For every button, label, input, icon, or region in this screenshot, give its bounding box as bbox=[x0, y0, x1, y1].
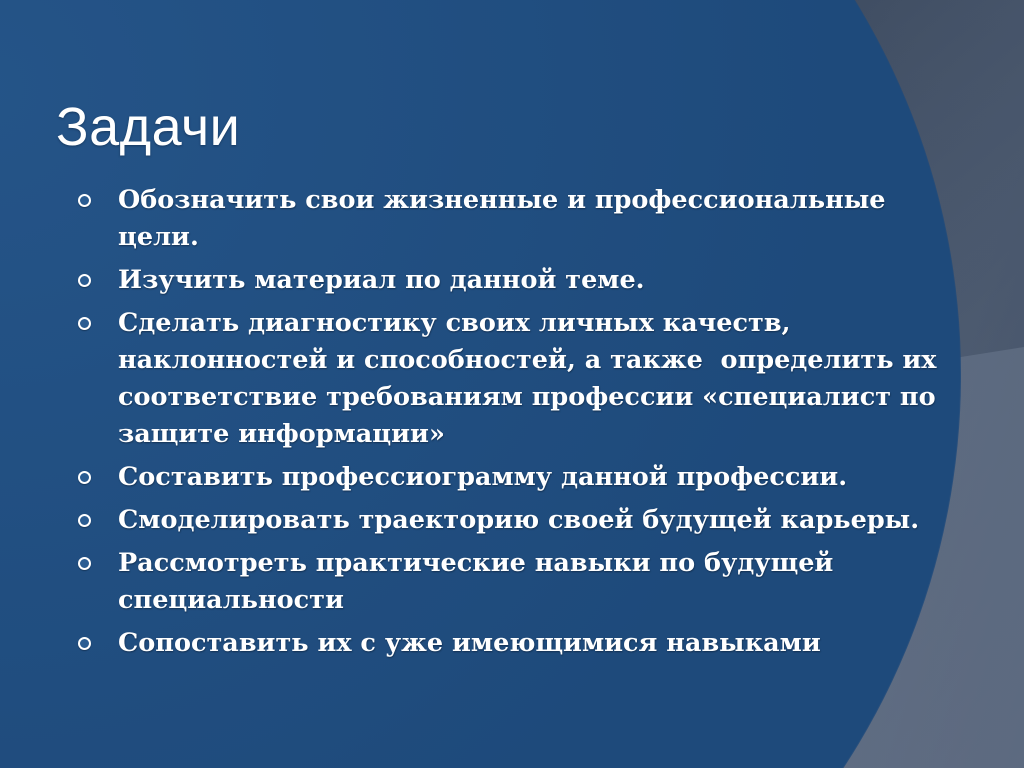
bullet-item: Составить профессиограмму данной професс… bbox=[72, 459, 952, 496]
hollow-circle-bullet-icon bbox=[78, 637, 91, 650]
bullet-item-text: Рассмотреть практические навыки по будущ… bbox=[118, 545, 952, 619]
bullet-item: Сделать диагностику своих личных качеств… bbox=[72, 305, 952, 453]
bullet-item-text: Смоделировать траекторию своей будущей к… bbox=[118, 502, 952, 539]
slide-title: Задачи bbox=[56, 98, 240, 157]
bullet-item: Изучить материал по данной теме. bbox=[72, 262, 952, 299]
hollow-circle-bullet-icon bbox=[78, 557, 91, 570]
bullet-item: Смоделировать траекторию своей будущей к… bbox=[72, 502, 952, 539]
bullet-list: Обозначить свои жизненные и профессионал… bbox=[72, 182, 952, 668]
hollow-circle-bullet-icon bbox=[78, 274, 91, 287]
hollow-circle-bullet-icon bbox=[78, 514, 91, 527]
bullet-item-text: Сопоставить их с уже имеющимися навыками bbox=[118, 625, 952, 662]
presentation-slide: Задачи Обозначить свои жизненные и профе… bbox=[0, 0, 1024, 768]
bullet-item: Рассмотреть практические навыки по будущ… bbox=[72, 545, 952, 619]
bullet-item: Сопоставить их с уже имеющимися навыками bbox=[72, 625, 952, 662]
bullet-item: Обозначить свои жизненные и профессионал… bbox=[72, 182, 952, 256]
bullet-item-text: Обозначить свои жизненные и профессионал… bbox=[118, 182, 952, 256]
bullet-item-text: Изучить материал по данной теме. bbox=[118, 262, 952, 299]
bullet-item-text: Сделать диагностику своих личных качеств… bbox=[118, 305, 952, 453]
hollow-circle-bullet-icon bbox=[78, 317, 91, 330]
slide-content: Задачи Обозначить свои жизненные и профе… bbox=[0, 0, 1024, 768]
bullet-item-text: Составить профессиограмму данной професс… bbox=[118, 459, 952, 496]
hollow-circle-bullet-icon bbox=[78, 471, 91, 484]
hollow-circle-bullet-icon bbox=[78, 194, 91, 207]
